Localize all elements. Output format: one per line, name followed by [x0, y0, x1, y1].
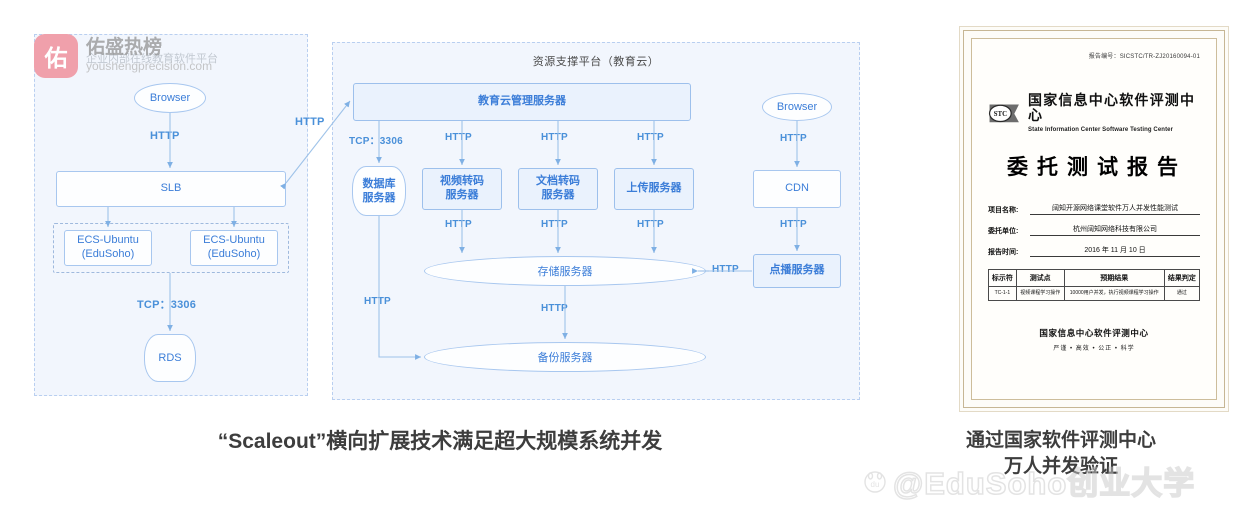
certificate-field-row: 报告时间: 2016 年 11 月 10 日 — [988, 245, 1200, 257]
node-cdn: CDN — [753, 170, 841, 208]
certificate-org-cn: 国家信息中心软件评测中心 — [1028, 94, 1200, 125]
edge-browser-cdn-label: HTTP — [780, 133, 807, 144]
table-header-cell: 测试点 — [1016, 269, 1064, 286]
node-upload-server: 上传服务器 — [614, 168, 694, 210]
svg-text:STC: STC — [994, 110, 1008, 118]
certificate-field-row: 委托单位: 杭州阔知网络科技有限公司 — [988, 224, 1200, 236]
site-badge: 佑 佑盛热榜 youshengprecision.com — [34, 34, 212, 78]
node-cloud-browser: Browser — [762, 93, 832, 121]
edge-vod-storage-label: HTTP — [712, 264, 739, 275]
edge-storage-backup-label: HTTP — [541, 303, 568, 314]
field-value: 杭州阔知网络科技有限公司 — [1030, 224, 1200, 236]
node-backup-server: 备份服务器 — [424, 342, 706, 372]
certificate-org-header: STC 国家信息中心软件评测中心 State Information Cente… — [988, 94, 1200, 133]
certificate-report-number: 报告编号：SICSTC/TR-ZJ20160094-01 — [988, 51, 1200, 60]
certificate-title: 委托测试报告 — [994, 151, 1200, 181]
node-left-browser-label: Browser — [150, 92, 190, 104]
table-header-row: 标示符 测试点 预期结果 结果判定 — [989, 269, 1200, 286]
right-caption-line-1: 通过国家软件评测中心 — [880, 428, 1242, 454]
field-value: 阔知开源网络课堂软件万人并发性能测试 — [1030, 203, 1200, 215]
edge-video-storage-label: HTTP — [445, 219, 472, 230]
left-caption: “Scaleout”横向扩展技术满足超大规模系统并发 — [0, 428, 880, 456]
certificate-org-en: State Information Center Software Testin… — [1028, 127, 1200, 133]
table-row: TC-1-1 视频课程学习操作 10000用户并发，执行视频课程学习操作 通过 — [989, 286, 1200, 301]
table-header-cell: 预期结果 — [1064, 269, 1164, 286]
edge-ecs-rds-label: TCP：3306 — [137, 296, 196, 312]
stc-logo-icon: STC — [988, 101, 1022, 125]
edge-upload-storage-label: HTTP — [637, 219, 664, 230]
node-backup-server-label: 备份服务器 — [538, 349, 593, 365]
table-header-cell: 结果判定 — [1164, 269, 1199, 286]
edge-cross-panel-label: HTTP — [295, 116, 325, 128]
badge-title: 佑盛热榜 — [86, 38, 212, 58]
certificate-footer-org: 国家信息中心软件评测中心 — [988, 327, 1200, 339]
slide-canvas: 企业内部在线教育软件平台 Browser HTTP SLB ECS-Ubuntu… — [0, 0, 1242, 518]
table-cell: 通过 — [1164, 286, 1199, 301]
baidu-paw-icon: du — [862, 468, 888, 494]
node-slb: SLB — [56, 171, 286, 207]
badge-text-group: 佑盛热榜 youshengprecision.com — [86, 38, 212, 75]
field-key: 项目名称: — [988, 205, 1030, 215]
node-upload-server-label: 上传服务器 — [627, 182, 682, 196]
node-ecs-1-label: ECS-Ubuntu (EduSoho) — [77, 234, 139, 262]
certificate-footer-motto: 严谨 • 高效 • 公正 • 科学 — [988, 343, 1200, 352]
node-rds-label: RDS — [158, 351, 181, 365]
badge-logo-icon: 佑 — [34, 34, 78, 78]
node-db-server: 数据库 服务器 — [352, 166, 406, 216]
certificate-fields: 项目名称: 阔知开源网络课堂软件万人并发性能测试 委托单位: 杭州阔知网络科技有… — [988, 203, 1200, 257]
edge-doc-storage-label: HTTP — [541, 219, 568, 230]
certificate-footer: 国家信息中心软件评测中心 严谨 • 高效 • 公正 • 科学 — [988, 327, 1200, 352]
node-slb-label: SLB — [161, 182, 182, 196]
certificate-document: 报告编号：SICSTC/TR-ZJ20160094-01 STC 国家信息中心软… — [963, 30, 1225, 408]
node-ecs-2: ECS-Ubuntu (EduSoho) — [190, 230, 278, 266]
watermark-text: @EduSoho创业大学 — [893, 458, 1195, 503]
svg-text:du: du — [871, 480, 880, 489]
edge-cdn-vod-label: HTTP — [780, 219, 807, 230]
certificate-inner-frame: 报告编号：SICSTC/TR-ZJ20160094-01 STC 国家信息中心软… — [971, 38, 1217, 400]
node-ecs-2-label: ECS-Ubuntu (EduSoho) — [203, 234, 265, 262]
node-video-transcode: 视频转码 服务器 — [422, 168, 502, 210]
node-left-browser: Browser — [134, 83, 206, 113]
node-video-transcode-label: 视频转码 服务器 — [440, 175, 484, 203]
edge-manager-db-label: TCP：3306 — [349, 132, 403, 147]
field-value: 2016 年 11 月 10 日 — [1030, 245, 1200, 257]
edge-manager-doc-label: HTTP — [541, 132, 568, 143]
badge-logo-text: 佑 — [45, 39, 68, 73]
table-cell: 视频课程学习操作 — [1016, 286, 1064, 301]
node-storage-server: 存储服务器 — [424, 256, 706, 286]
edge-db-backup-label: HTTP — [364, 296, 391, 307]
edge-browser-slb-label: HTTP — [150, 130, 180, 142]
node-cloud-browser-label: Browser — [777, 101, 817, 113]
node-vod-server-label: 点播服务器 — [770, 264, 825, 278]
table-header-cell: 标示符 — [989, 269, 1017, 286]
node-storage-server-label: 存储服务器 — [538, 263, 593, 279]
field-key: 报告时间: — [988, 247, 1030, 257]
edge-manager-upload-label: HTTP — [637, 132, 664, 143]
edge-manager-video-label: HTTP — [445, 132, 472, 143]
table-cell: 10000用户并发，执行视频课程学习操作 — [1064, 286, 1164, 301]
node-doc-transcode: 文档转码 服务器 — [518, 168, 598, 210]
table-cell: TC-1-1 — [989, 286, 1017, 301]
node-cloud-manager-label: 教育云管理服务器 — [478, 95, 566, 109]
baidu-watermark: du @EduSoho创业大学 — [862, 458, 1195, 503]
node-cloud-manager: 教育云管理服务器 — [353, 83, 691, 121]
node-doc-transcode-label: 文档转码 服务器 — [536, 175, 580, 203]
node-ecs-1: ECS-Ubuntu (EduSoho) — [64, 230, 152, 266]
badge-site: youshengprecision.com — [86, 58, 212, 75]
certificate-result-table: 标示符 测试点 预期结果 结果判定 TC-1-1 视频课程学习操作 10000用… — [988, 269, 1200, 302]
certificate-field-row: 项目名称: 阔知开源网络课堂软件万人并发性能测试 — [988, 203, 1200, 215]
cloud-platform-title: 资源支撑平台（教育云） — [332, 53, 860, 69]
field-key: 委托单位: — [988, 226, 1030, 236]
node-db-server-label: 数据库 服务器 — [363, 177, 396, 206]
certificate-org-names: 国家信息中心软件评测中心 State Information Center So… — [1028, 94, 1200, 133]
node-vod-server: 点播服务器 — [753, 254, 841, 288]
node-cdn-label: CDN — [785, 182, 809, 196]
node-rds: RDS — [144, 334, 196, 382]
